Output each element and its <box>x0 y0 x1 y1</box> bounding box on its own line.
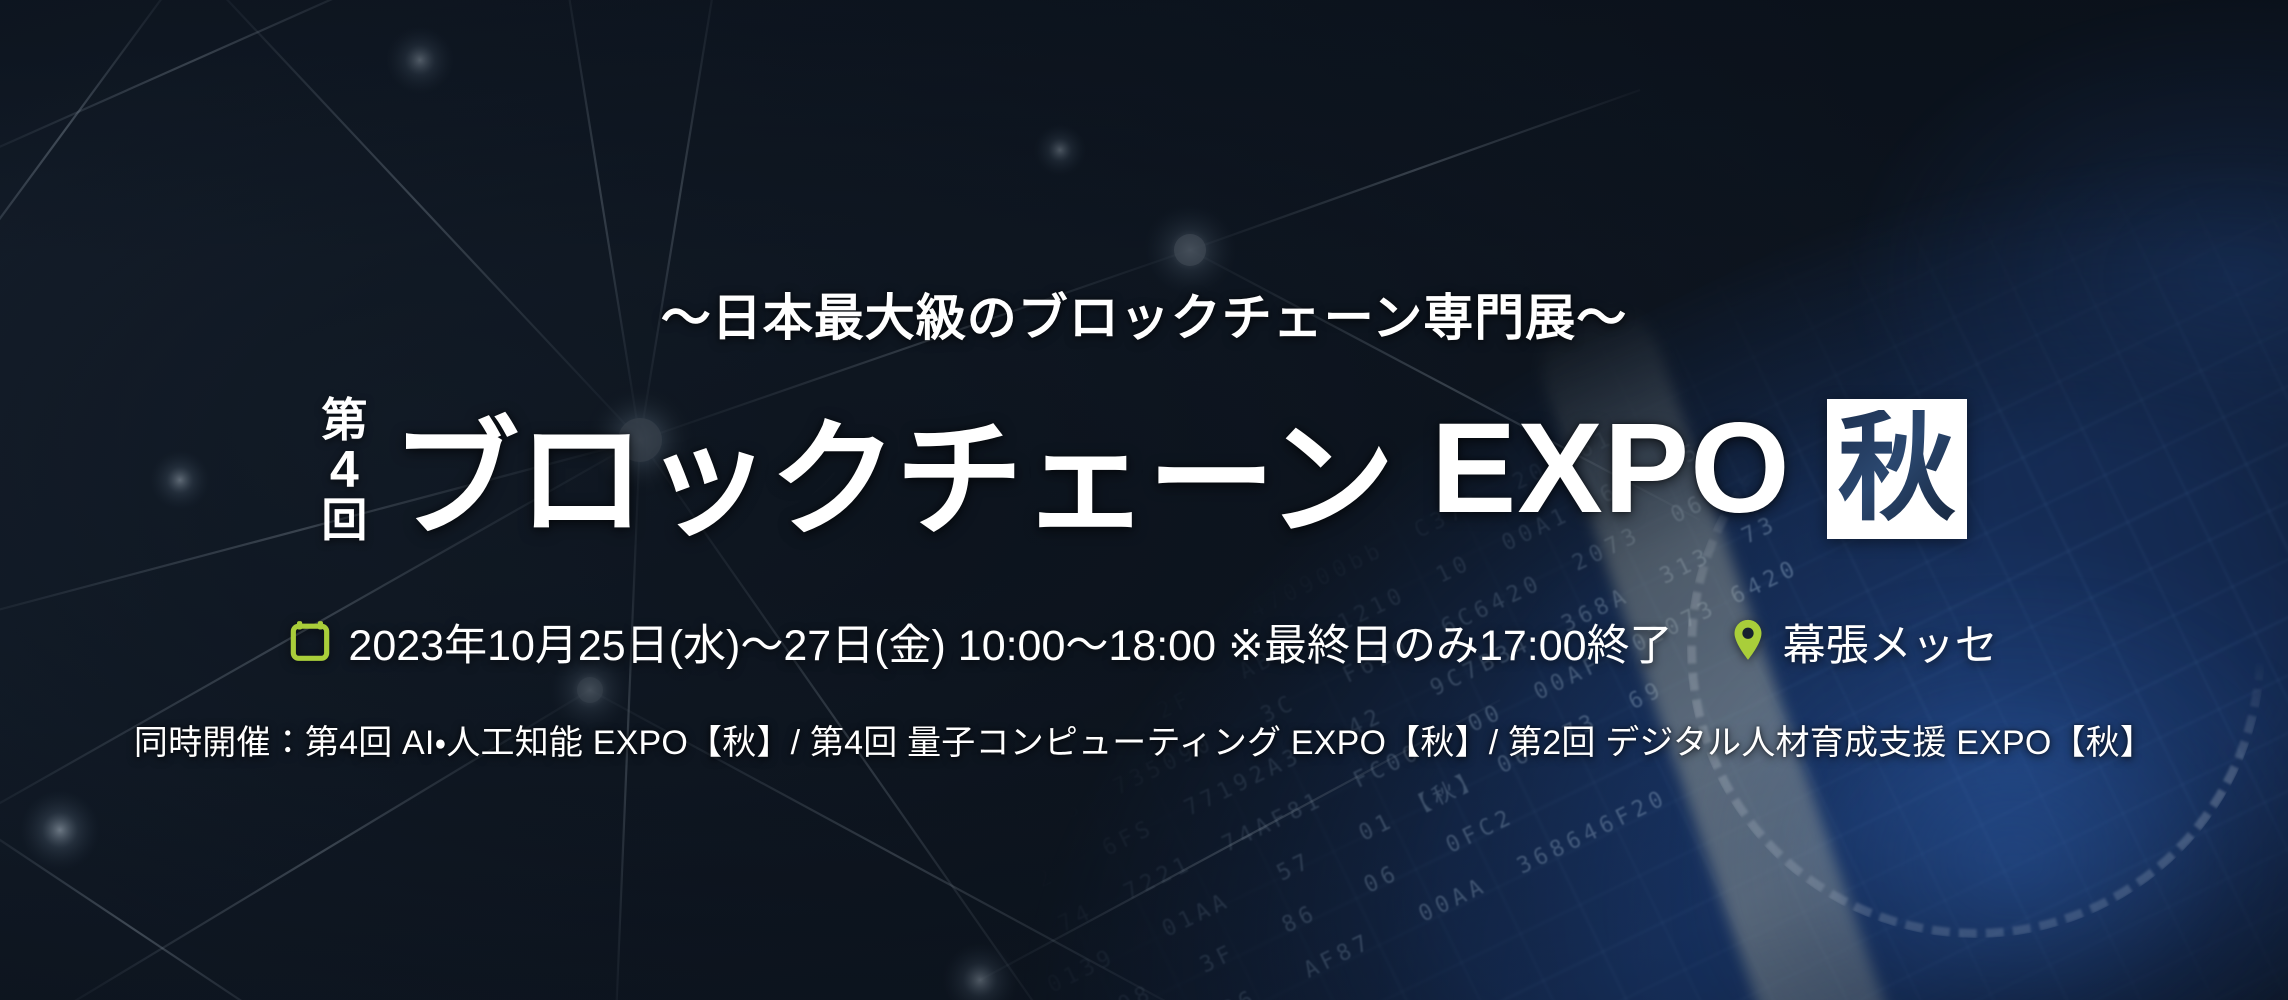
edition-badge: 第 4 回 <box>321 397 367 544</box>
page-title: ブロックチェーン <box>391 376 1393 561</box>
map-pin-icon <box>1731 618 1765 667</box>
calendar-icon <box>290 619 330 666</box>
season-badge-label: 秋 <box>1838 410 1956 528</box>
tagline: 〜日本最大級のブロックチェーン専門展〜 <box>661 278 1628 350</box>
title-expo: EXPO <box>1431 395 1791 542</box>
event-date-text: 2023年10月25日(水)〜27日(金) 10:00〜18:00 ※最終日のみ… <box>348 611 1672 673</box>
event-banner: 61 57A3 FS 1D 470900bb C373 20 61 06769 … <box>0 0 2288 1000</box>
co-host-events: 同時開催：第4回 AI・人工知能 EXPO【秋】/ 第4回 量子コンピューティン… <box>134 715 2154 764</box>
venue-text: 幕張メッセ <box>1783 611 1998 673</box>
edition-suffix: 回 <box>321 497 367 544</box>
edition-number: 4 <box>330 444 359 497</box>
schedule-row: 2023年10月25日(水)〜27日(金) 10:00〜18:00 ※最終日のみ… <box>290 611 1997 673</box>
edition-prefix: 第 <box>321 397 367 444</box>
season-badge: 秋 <box>1827 399 1967 539</box>
banner-content: 〜日本最大級のブロックチェーン専門展〜 第 4 回 ブロックチェーン EXPO … <box>0 0 2288 1000</box>
title-row: 第 4 回 ブロックチェーン EXPO 秋 <box>321 376 1966 561</box>
